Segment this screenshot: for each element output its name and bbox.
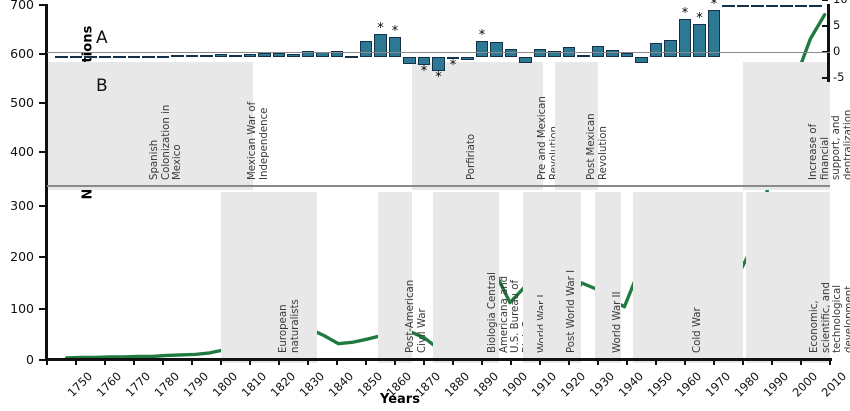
- band-label: Post MexicanRevolution: [586, 66, 609, 180]
- secondary-y-axis-tick-label: 0: [833, 44, 840, 58]
- growth-bar: [244, 54, 256, 57]
- secondary-y-axis-tick-label: -5: [833, 70, 844, 84]
- figure-root: Number of publications Years SpanishColo…: [0, 0, 850, 411]
- growth-bar: [215, 54, 227, 57]
- growth-bar: [519, 57, 531, 63]
- historical-band-bottom: [633, 192, 743, 363]
- panel-break-line: [47, 185, 830, 187]
- significance-star: *: [392, 25, 399, 38]
- y-axis-tick: [39, 256, 46, 258]
- y-axis-tick-label: 700: [0, 0, 34, 12]
- growth-bar: [751, 5, 763, 7]
- growth-bar: [432, 57, 444, 71]
- historical-band-top: [412, 62, 511, 190]
- growth-bar: [99, 56, 111, 58]
- y-axis-tick: [39, 4, 46, 6]
- x-axis-tick-label: 1910: [529, 369, 560, 400]
- growth-bar: [229, 55, 241, 57]
- band-label: Economic,scientific, andtechnologicaldev…: [809, 196, 850, 353]
- y-axis-tick-label: 0: [0, 352, 34, 367]
- x-axis-tick: [626, 358, 628, 365]
- band-label: Europeannaturalists: [278, 196, 301, 353]
- y-axis-tick: [39, 205, 46, 207]
- growth-bar: [577, 55, 589, 57]
- x-axis-tick-label: 1970: [703, 369, 734, 400]
- band-label: SpanishColonization inMexico: [149, 66, 184, 180]
- x-axis-tick: [394, 358, 396, 365]
- x-axis-tick-label: 1840: [326, 369, 357, 400]
- band-label: World War II: [612, 196, 624, 353]
- growth-bar: [795, 5, 807, 7]
- x-axis-tick: [46, 358, 48, 365]
- growth-bar: [84, 56, 96, 58]
- significance-star: *: [450, 59, 457, 72]
- y-axis-tick-label: 300: [0, 198, 34, 213]
- x-axis-tick-label: 1940: [616, 369, 647, 400]
- growth-bar: [157, 56, 169, 58]
- growth-bar: [171, 55, 183, 57]
- x-axis-tick-label: 1780: [152, 369, 183, 400]
- growth-bar: [70, 56, 82, 58]
- growth-bar: [708, 10, 720, 57]
- growth-bar: [461, 57, 473, 60]
- x-axis-tick-label: 1900: [500, 369, 531, 400]
- band-label: Cold War: [692, 196, 704, 353]
- x-axis-tick: [162, 358, 164, 365]
- band-label: Porfiriato: [466, 66, 478, 180]
- x-axis-tick-label: 1960: [674, 369, 705, 400]
- y-axis-tick-label: 600: [0, 46, 34, 61]
- x-axis-tick: [713, 358, 715, 365]
- x-axis-tick-label: 1820: [268, 369, 299, 400]
- x-axis-tick: [307, 358, 309, 365]
- secondary-y-axis-tick: [822, 77, 828, 79]
- historical-band-top: [47, 62, 221, 190]
- x-axis-tick: [800, 358, 802, 365]
- x-axis-tick-label: 1930: [587, 369, 618, 400]
- secondary-y-axis-tick: [822, 0, 828, 1]
- x-axis-tick: [510, 358, 512, 365]
- significance-star: *: [435, 71, 442, 84]
- growth-bar: [258, 53, 270, 57]
- growth-bar: [128, 56, 140, 58]
- x-axis-tick: [278, 358, 280, 365]
- x-axis-tick: [481, 358, 483, 365]
- growth-bar: [780, 5, 792, 7]
- secondary-y-axis-tick-label: 10: [833, 0, 848, 6]
- x-axis-tick: [75, 358, 77, 365]
- secondary-y-axis-tick: [822, 25, 828, 27]
- x-axis-tick: [423, 358, 425, 365]
- x-axis-tick: [452, 358, 454, 365]
- significance-star: *: [479, 29, 486, 42]
- secondary-y-axis-line: [827, 4, 830, 82]
- growth-bar: [374, 34, 386, 57]
- growth-bar: [403, 57, 415, 64]
- x-axis-tick: [771, 358, 773, 365]
- x-axis-tick-label: 1950: [645, 369, 676, 400]
- x-axis-tick: [742, 358, 744, 365]
- growth-bar: [664, 40, 676, 57]
- x-axis-tick: [133, 358, 135, 365]
- band-label: Post World War I: [566, 196, 578, 353]
- growth-bar: [55, 56, 67, 58]
- y-axis-tick-label: 200: [0, 249, 34, 264]
- x-axis-tick-label: 1920: [558, 369, 589, 400]
- growth-bar: [186, 55, 198, 57]
- y-axis-tick-label: 500: [0, 95, 34, 110]
- growth-bar: [809, 5, 821, 7]
- x-axis-tick: [220, 358, 222, 365]
- x-axis-tick-label: 1890: [471, 369, 502, 400]
- x-axis-tick: [684, 358, 686, 365]
- plot-area: SpanishColonization inMexicoMexican War …: [47, 5, 830, 360]
- growth-bar: [113, 56, 125, 58]
- growth-bar: [476, 41, 488, 57]
- x-axis-tick: [191, 358, 193, 365]
- y-axis-tick: [39, 53, 46, 55]
- x-axis-tick: [365, 358, 367, 365]
- y-axis-tick-label: 100: [0, 301, 34, 316]
- x-axis-tick-label: 1810: [239, 369, 270, 400]
- y-axis-tick: [39, 102, 46, 104]
- growth-bar: [360, 41, 372, 57]
- band-label: Mexican War ofIndependence: [247, 66, 270, 180]
- panel-letter-b: B: [96, 76, 108, 96]
- historical-band-bottom: [221, 192, 317, 363]
- x-axis-tick-label: 1870: [413, 369, 444, 400]
- growth-bar: [737, 5, 749, 7]
- band-label: Post-AmericanCivil War: [405, 196, 428, 353]
- x-axis-tick: [249, 358, 251, 365]
- growth-bar: [650, 43, 662, 57]
- x-axis-tick-label: 1830: [297, 369, 328, 400]
- significance-star: *: [696, 12, 703, 25]
- x-axis-tick-label: 1760: [94, 369, 125, 400]
- growth-bar: [722, 5, 734, 7]
- growth-bar: [766, 5, 778, 7]
- growth-bar: [287, 54, 299, 57]
- x-axis-tick: [568, 358, 570, 365]
- growth-bar: [142, 56, 154, 58]
- growth-bar: [389, 37, 401, 57]
- x-axis-tick-label: 1770: [123, 369, 154, 400]
- x-axis-tick: [336, 358, 338, 365]
- y-axis-tick: [39, 151, 46, 153]
- x-axis-tick-label: 1980: [732, 369, 763, 400]
- growth-bar: [200, 55, 212, 57]
- growth-bar: [490, 42, 502, 57]
- significance-star: *: [711, 0, 718, 11]
- growth-bar: [635, 57, 647, 63]
- x-axis-tick: [829, 358, 831, 365]
- x-axis-tick-label: 1800: [210, 369, 241, 400]
- significance-star: *: [682, 7, 689, 20]
- secondary-y-axis-tick-label: 5: [833, 18, 840, 32]
- x-axis-tick-label: 2000: [790, 369, 821, 400]
- x-axis-tick-label: 2010: [819, 369, 850, 400]
- x-axis-tick: [655, 358, 657, 365]
- x-axis-tick: [104, 358, 106, 365]
- x-axis-tick-label: 1990: [761, 369, 792, 400]
- x-axis-tick: [539, 358, 541, 365]
- bar-zero-line: [47, 52, 830, 53]
- panel-letter-a: A: [96, 28, 108, 48]
- x-axis-label: Years: [380, 392, 420, 407]
- x-axis-tick: [597, 358, 599, 365]
- x-axis-tick-label: 1880: [442, 369, 473, 400]
- y-axis-tick-label: 400: [0, 144, 34, 159]
- growth-bar: [621, 53, 633, 57]
- y-axis-tick: [39, 308, 46, 310]
- significance-star: *: [377, 22, 384, 35]
- significance-star: *: [421, 65, 428, 78]
- y-axis-tick: [39, 359, 46, 361]
- x-axis-tick-label: 1750: [65, 369, 96, 400]
- x-axis-tick-label: 1790: [181, 369, 212, 400]
- growth-bar: [345, 56, 357, 58]
